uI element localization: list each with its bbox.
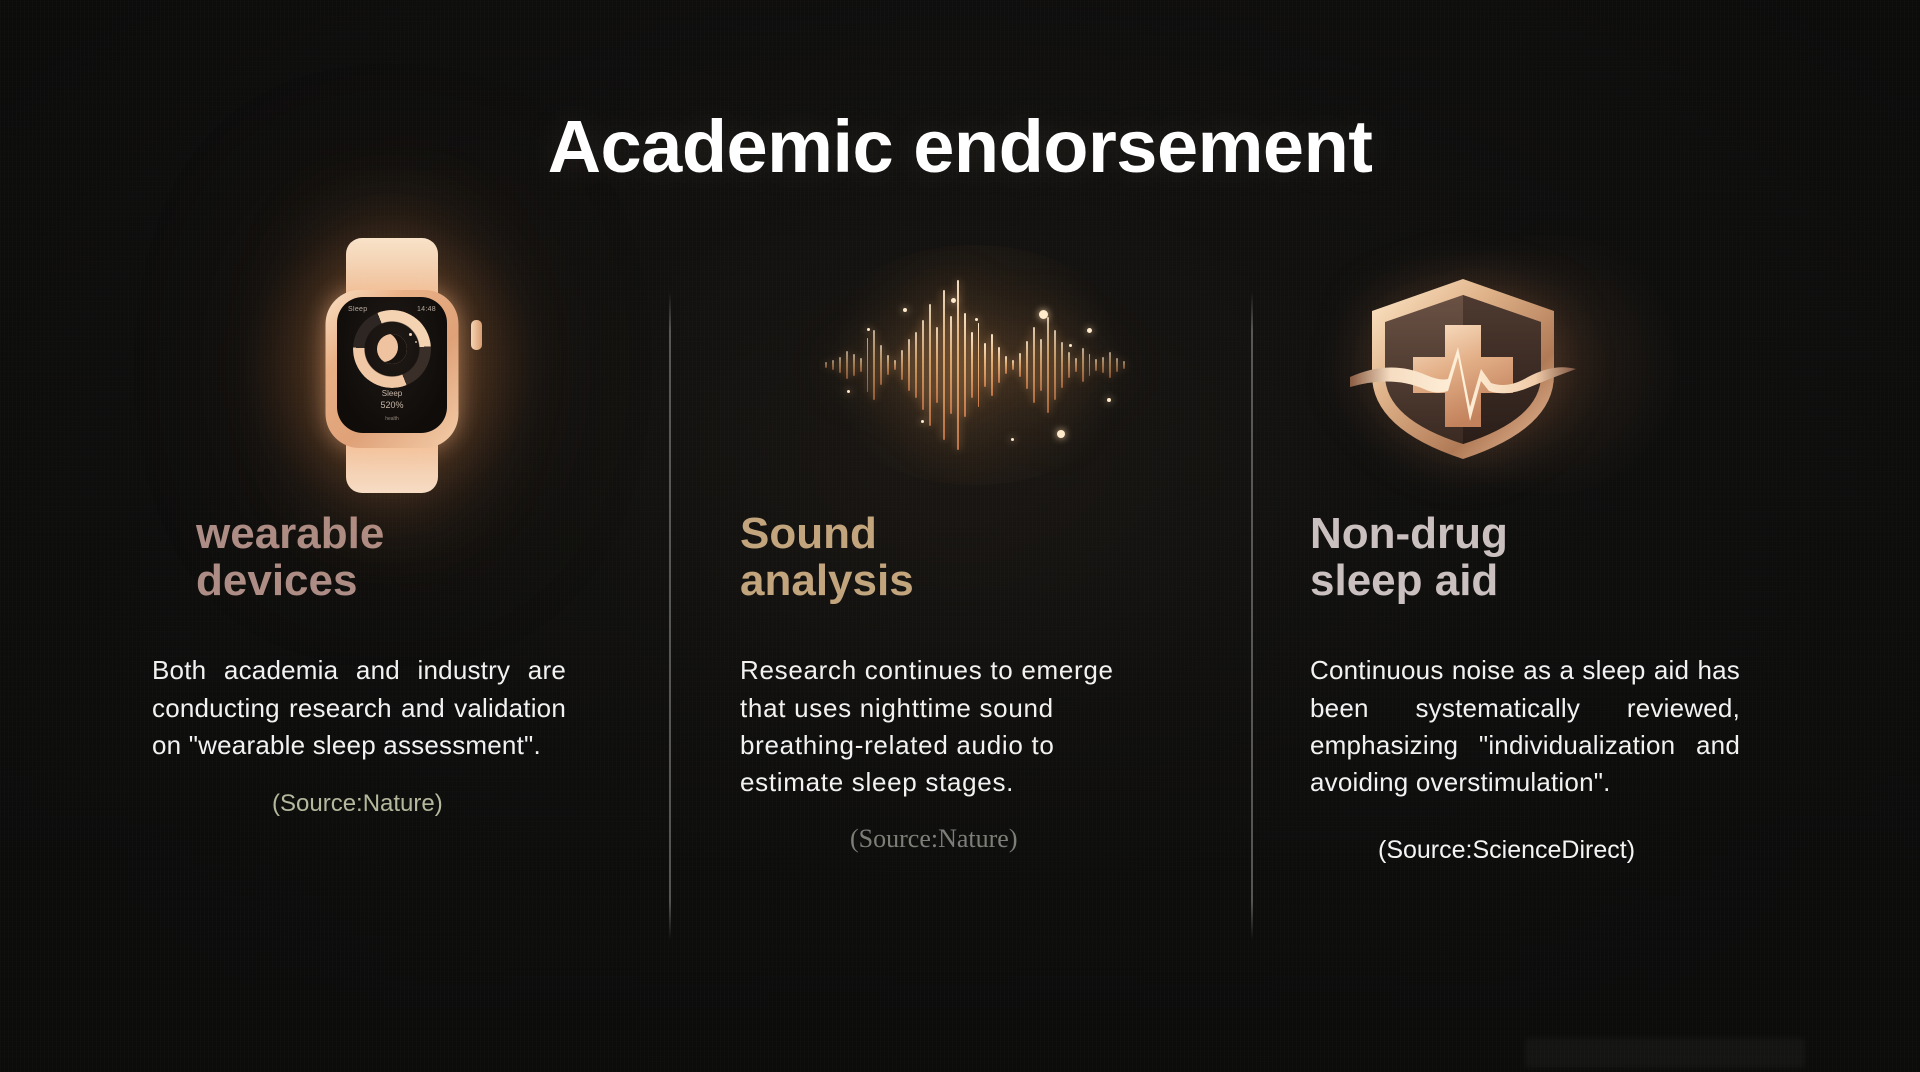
column-body-wearable: Both academia and industry are conductin… — [152, 652, 566, 764]
star-icon — [415, 341, 417, 343]
waveform-bar — [957, 280, 959, 450]
star-icon — [409, 333, 412, 336]
sparkle-icon — [903, 308, 907, 312]
waveform-bar — [1109, 352, 1111, 378]
waveform-bar — [1061, 342, 1063, 388]
watch-status-right: 14:48 — [417, 306, 436, 313]
column-heading-sound: Sound analysis — [740, 510, 1210, 604]
smartwatch-sleep-icon: Sleep 14:48 Sleep 520% health — [310, 238, 475, 493]
waveform-bar — [971, 332, 973, 398]
waveform-bar — [943, 290, 945, 440]
waveform-bar — [853, 354, 855, 376]
slide-root: Academic endorsement Sleep 14:48 — [0, 0, 1920, 1072]
waveform-bar — [1026, 341, 1028, 389]
column-source-sound: (Source:Nature) — [740, 824, 1210, 854]
waveform-bar — [929, 304, 931, 426]
waveform-bar — [978, 323, 980, 407]
sparkle-icon — [951, 298, 956, 303]
waveform-bar — [1102, 357, 1104, 373]
sparkle-icon — [1011, 438, 1014, 441]
waveform-bar — [1116, 358, 1118, 372]
waveform-bar — [984, 343, 986, 387]
waveform-bar — [1075, 358, 1077, 372]
waveform-bar — [860, 358, 862, 372]
waveform-bar — [1095, 359, 1097, 371]
waveform-bar — [839, 357, 841, 373]
waveform-bar — [1033, 327, 1035, 403]
sparkle-icon — [1107, 398, 1111, 402]
sparkle-icon — [1057, 430, 1065, 438]
waveform-bar — [1012, 360, 1014, 370]
waveform-bar — [1019, 353, 1021, 377]
column-heading-non-drug: Non-drug sleep aid — [1310, 510, 1780, 604]
waveform-bar — [825, 362, 827, 368]
waveform-bar — [950, 316, 952, 414]
waveform-bar — [964, 313, 966, 417]
waveform-bar — [901, 350, 903, 380]
waveform-bar — [894, 360, 896, 370]
watch-sub-label: health — [337, 416, 447, 422]
sparkle-icon — [1069, 344, 1072, 347]
watch-crown-icon — [471, 320, 482, 350]
waveform-bar — [908, 339, 910, 391]
waveform-bar — [1005, 356, 1007, 374]
waveform-bar — [1089, 354, 1091, 376]
sparkle-icon — [921, 420, 924, 423]
waveform-bar — [1082, 348, 1084, 382]
column-source-wearable: (Source:Nature) — [152, 790, 632, 818]
icon-wrap-sound — [740, 250, 1210, 480]
waveform-bar — [846, 351, 848, 379]
column-body-non-drug: Continuous noise as a sleep aid has been… — [1310, 652, 1740, 802]
column-source-non-drug: (Source:ScienceDirect) — [1310, 836, 1780, 865]
waveform-bar — [887, 355, 889, 375]
column-wearable-devices: Sleep 14:48 Sleep 520% health wearable d… — [152, 250, 632, 818]
waveform-bar — [1047, 317, 1049, 413]
waveform-bar — [1068, 352, 1070, 378]
audio-waveform-icon — [825, 270, 1125, 460]
sparkle-icon — [867, 328, 870, 331]
watch-face: Sleep 14:48 Sleep 520% health — [337, 297, 447, 433]
column-body-sound: Research continues to emerge that uses n… — [740, 652, 1160, 802]
waveform-bar — [873, 330, 875, 400]
waveform-bar — [1123, 361, 1125, 369]
waveform-bar — [880, 345, 882, 385]
watch-status-left: Sleep — [348, 306, 367, 313]
waveform-bar — [915, 332, 917, 398]
medical-shield-heartbeat-icon — [1348, 265, 1578, 465]
watch-metric-value: 520% — [337, 400, 447, 410]
sparkle-icon — [847, 390, 850, 393]
waveform-bar — [867, 338, 869, 392]
waveform-bar — [832, 360, 834, 370]
waveform-bar — [936, 327, 938, 403]
sparkle-icon — [975, 318, 978, 321]
waveform-bar — [922, 320, 924, 410]
icon-wrap-wearable: Sleep 14:48 Sleep 520% health — [152, 250, 632, 480]
columns-container: Sleep 14:48 Sleep 520% health wearable d… — [0, 250, 1920, 1072]
crescent-moon-icon — [377, 334, 407, 364]
sparkle-icon — [1087, 328, 1092, 333]
page-title: Academic endorsement — [0, 108, 1920, 186]
icon-wrap-shield — [1310, 250, 1780, 480]
column-sound-analysis: Sound analysis Research continues to eme… — [740, 250, 1210, 854]
waveform-bar — [998, 347, 1000, 383]
watch-metric-label: Sleep — [337, 389, 447, 398]
column-non-drug-sleep-aid: Non-drug sleep aid Continuous noise as a… — [1310, 250, 1780, 865]
waveform-bar — [1040, 339, 1042, 391]
waveform-bar — [991, 334, 993, 396]
column-heading-wearable: wearable devices — [152, 510, 632, 604]
waveform-bar — [1054, 330, 1056, 400]
